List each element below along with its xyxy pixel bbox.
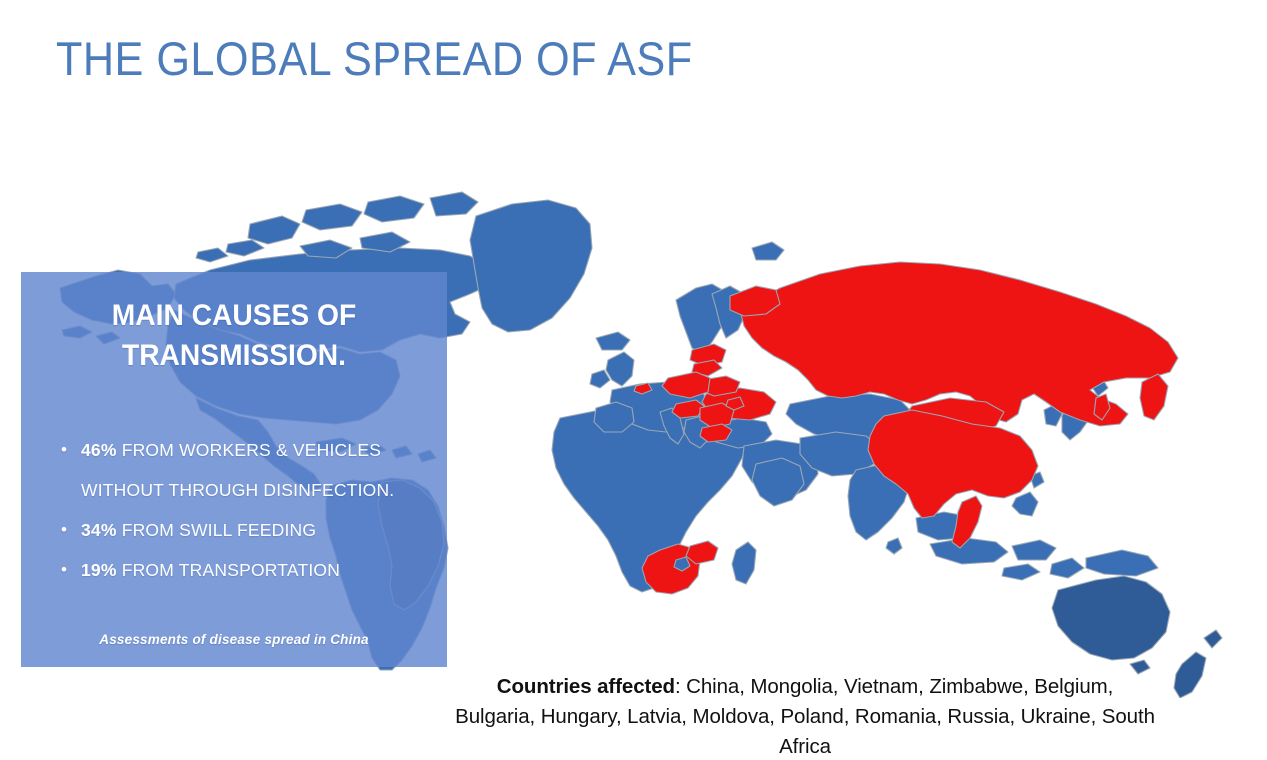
caption-separator: : xyxy=(675,675,686,698)
causes-list: • 46% FROM WORKERS & VEHICLES WITHOUT TH… xyxy=(55,430,429,590)
bullet-icon: • xyxy=(61,550,67,590)
panel-heading-line1: MAIN CAUSES OF xyxy=(34,296,434,336)
list-item: • 46% FROM WORKERS & VEHICLES WITHOUT TH… xyxy=(55,430,429,510)
infographic-slide: THE GLOBAL SPREAD OF ASF xyxy=(0,0,1267,760)
cause-text: FROM SWILL FEEDING xyxy=(117,520,317,540)
panel-heading: MAIN CAUSES OF TRANSMISSION. xyxy=(34,296,434,376)
bullet-icon: • xyxy=(61,510,67,550)
panel-heading-line2: TRANSMISSION. xyxy=(34,336,434,376)
cause-percent: 46% xyxy=(81,440,117,460)
cause-text: FROM WORKERS & VEHICLES xyxy=(117,440,381,460)
caption-label: Countries affected xyxy=(497,675,675,698)
bullet-icon: • xyxy=(61,430,67,470)
cause-text: FROM TRANSPORTATION xyxy=(117,560,340,580)
main-causes-panel: MAIN CAUSES OF TRANSMISSION. • 46% FROM … xyxy=(21,272,447,667)
countries-affected-caption: Countries affected: China, Mongolia, Vie… xyxy=(455,672,1155,760)
page-title: THE GLOBAL SPREAD OF ASF xyxy=(56,31,693,86)
cause-percent: 34% xyxy=(81,520,117,540)
list-item: • 19% FROM TRANSPORTATION xyxy=(55,550,429,590)
cause-percent: 19% xyxy=(81,560,117,580)
panel-source-note: Assessments of disease spread in China xyxy=(21,632,447,647)
list-item: • 34% FROM SWILL FEEDING xyxy=(55,510,429,550)
cause-text-continuation: WITHOUT THROUGH DISINFECTION. xyxy=(81,470,429,510)
